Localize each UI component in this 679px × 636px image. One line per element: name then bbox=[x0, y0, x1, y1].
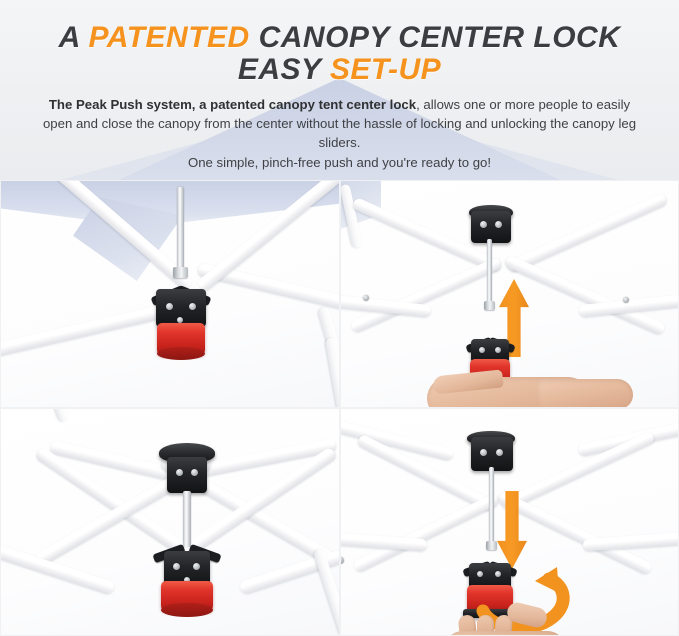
bottom-hub-rivet-right bbox=[495, 347, 501, 353]
frame-tube-lower-right bbox=[504, 255, 666, 336]
top-hub-rivet-right bbox=[496, 449, 503, 456]
title-highlight-setup: SET-UP bbox=[330, 53, 441, 86]
bottom-hub-rivet-left bbox=[479, 347, 485, 353]
chrome-rod-tip bbox=[486, 541, 497, 550]
frame-tube-lower-left bbox=[352, 493, 499, 573]
frame-tube-top-stub bbox=[45, 408, 69, 422]
title-text-easy: EASY bbox=[238, 53, 330, 86]
header-section: A PATENTED CANOPY CENTER LOCK EASY SET-U… bbox=[0, 0, 679, 180]
top-center-hub bbox=[471, 211, 511, 243]
photo-grid bbox=[0, 180, 679, 636]
page-title: A PATENTED CANOPY CENTER LOCK EASY SET-U… bbox=[0, 22, 679, 86]
panel-bottom-right bbox=[340, 408, 679, 636]
frame-tube-rail-right bbox=[583, 531, 679, 552]
red-collar-base bbox=[157, 347, 205, 360]
description-last-line: One simple, pinch-free push and you're r… bbox=[40, 153, 639, 172]
top-hub-rivet-right bbox=[191, 469, 198, 476]
hub-rivet-left bbox=[166, 303, 173, 310]
chrome-rod-tip bbox=[484, 301, 495, 310]
infographic-page: A PATENTED CANOPY CENTER LOCK EASY SET-U… bbox=[0, 0, 679, 636]
chrome-push-rod bbox=[487, 239, 492, 305]
top-hub-rivet-left bbox=[176, 469, 183, 476]
chrome-push-rod bbox=[177, 187, 184, 271]
panel-top-left bbox=[0, 180, 340, 408]
frame-tube-upper-right bbox=[500, 430, 656, 511]
palm-wrist bbox=[537, 379, 633, 408]
frame-joint-right bbox=[623, 297, 629, 303]
top-hub-rivet-right bbox=[495, 221, 502, 228]
frame-joint-left bbox=[340, 557, 344, 564]
chrome-push-rod bbox=[489, 467, 494, 545]
panel-top-right bbox=[340, 180, 679, 408]
description-lead: The Peak Push system, a patented canopy … bbox=[49, 97, 416, 112]
frame-tube-lower-left bbox=[350, 257, 503, 334]
hub-rivet-right bbox=[189, 303, 196, 310]
frame-joint-left bbox=[363, 295, 369, 301]
chrome-push-rod bbox=[183, 491, 191, 547]
bottom-hub-rivet-left bbox=[173, 563, 180, 570]
panel-bottom-left bbox=[0, 408, 340, 636]
top-center-hub bbox=[167, 457, 207, 493]
top-hub-rivet-left bbox=[480, 449, 487, 456]
description-paragraph: The Peak Push system, a patented canopy … bbox=[0, 95, 679, 173]
chrome-rod-tip bbox=[173, 267, 188, 278]
gripping-palm bbox=[445, 631, 565, 636]
title-text-canopy-center-lock: CANOPY CENTER LOCK bbox=[250, 21, 621, 54]
frame-tube-upper-right bbox=[506, 193, 668, 274]
top-hub-rivet-left bbox=[480, 221, 487, 228]
title-text-a: A bbox=[59, 21, 89, 54]
bottom-hub-rivet-right bbox=[193, 563, 200, 570]
red-collar-base bbox=[161, 603, 213, 617]
top-center-hub bbox=[471, 437, 513, 471]
title-highlight-patented: PATENTED bbox=[89, 21, 250, 54]
